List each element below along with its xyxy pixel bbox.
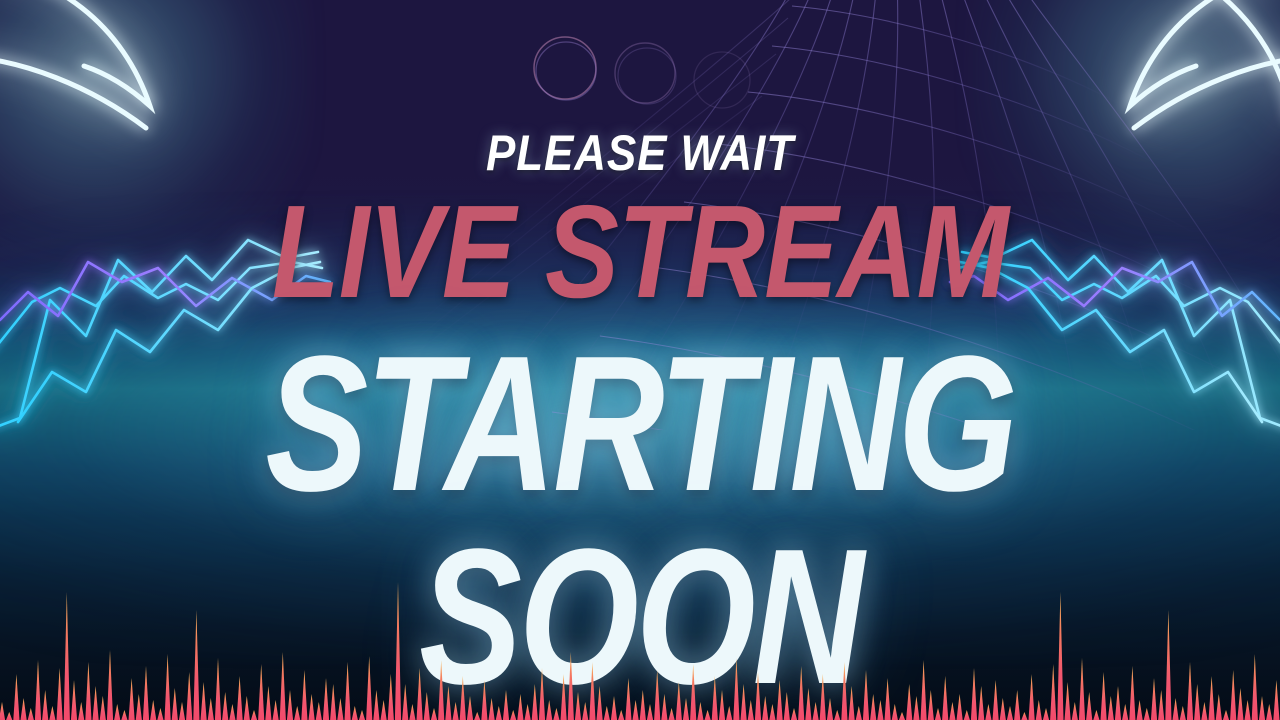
live-stream-standby-screen: PLEASE WAIT LIVE STREAM STARTING SOON: [0, 0, 1280, 720]
eyebrow-text: PLEASE WAIT: [77, 128, 1203, 178]
audio-waveform: [0, 520, 1280, 720]
title-line-1: LIVE STREAM: [102, 186, 1177, 318]
